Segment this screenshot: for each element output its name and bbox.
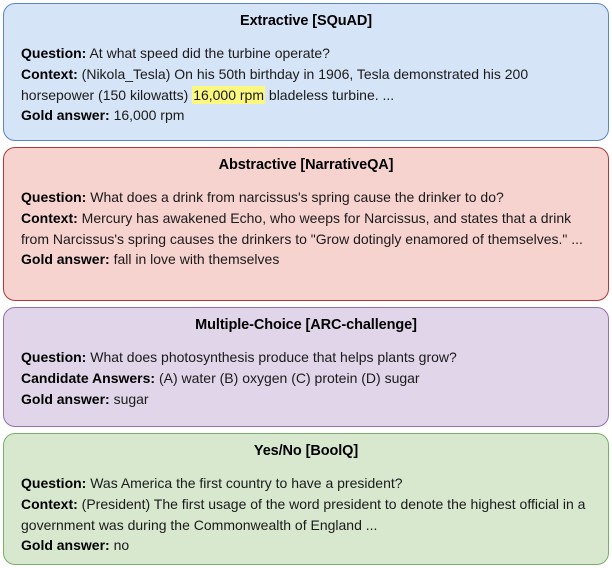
field-value-context: Mercury has awakened Echo, who weeps for… xyxy=(21,210,583,247)
context-highlight-span: 16,000 rpm xyxy=(192,86,265,104)
panel-title-yesno: Yes/No [BoolQ] xyxy=(21,442,591,460)
field-label-context: Context: xyxy=(21,210,78,226)
field-value-gold-answer: sugar xyxy=(114,391,149,407)
field-label-context: Context: xyxy=(21,66,78,82)
field-value-gold-answer: 16,000 rpm xyxy=(114,107,185,123)
field-label-question: Question: xyxy=(21,189,86,205)
field-label-question: Question: xyxy=(21,475,86,491)
field-candidate-answers: Candidate Answers: (A) water (B) oxygen … xyxy=(21,368,591,389)
field-value-question: What does a drink from narcissus's sprin… xyxy=(90,189,504,205)
field-question: Question: Was America the first country … xyxy=(21,473,591,494)
field-value-question: At what speed did the turbine operate? xyxy=(89,45,330,61)
field-label-context: Context: xyxy=(21,496,78,512)
field-context: Context: Mercury has awakened Echo, who … xyxy=(21,208,591,250)
qa-examples-figure: Extractive [SQuAD] Question: At what spe… xyxy=(0,0,612,568)
panel-body-multiple-choice: Question: What does photosynthesis produ… xyxy=(21,347,591,409)
panel-extractive: Extractive [SQuAD] Question: At what spe… xyxy=(3,3,609,141)
field-value-context: (President) The first usage of the word … xyxy=(21,496,585,533)
field-gold-answer: Gold answer: fall in love with themselve… xyxy=(21,249,591,270)
field-label-gold-answer: Gold answer: xyxy=(21,107,110,123)
panel-body-yesno: Question: Was America the first country … xyxy=(21,473,591,556)
panel-body-extractive: Question: At what speed did the turbine … xyxy=(21,43,591,126)
panel-abstractive: Abstractive [NarrativeQA] Question: What… xyxy=(3,147,609,301)
panel-title-extractive: Extractive [SQuAD] xyxy=(21,12,591,30)
panel-body-abstractive: Question: What does a drink from narciss… xyxy=(21,187,591,270)
field-context: Context: (Nikola_Tesla) On his 50th birt… xyxy=(21,64,591,106)
field-value-question: What does photosynthesis produce that he… xyxy=(90,349,457,365)
field-gold-answer: Gold answer: sugar xyxy=(21,389,591,410)
field-value-question: Was America the first country to have a … xyxy=(90,475,402,491)
field-question: Question: What does photosynthesis produ… xyxy=(21,347,591,368)
panel-title-multiple-choice: Multiple-Choice [ARC-challenge] xyxy=(21,316,591,334)
field-value-gold-answer: no xyxy=(114,537,130,553)
field-gold-answer: Gold answer: no xyxy=(21,535,591,556)
field-label-gold-answer: Gold answer: xyxy=(21,537,110,553)
field-label-gold-answer: Gold answer: xyxy=(21,251,110,267)
field-label-candidate-answers: Candidate Answers: xyxy=(21,370,155,386)
field-label-gold-answer: Gold answer: xyxy=(21,391,110,407)
panel-yesno: Yes/No [BoolQ] Question: Was America the… xyxy=(3,433,609,565)
field-value-context-after: bladeless turbine. ... xyxy=(265,87,394,103)
field-question: Question: At what speed did the turbine … xyxy=(21,43,591,64)
field-value-gold-answer: fall in love with themselves xyxy=(114,251,280,267)
panel-multiple-choice: Multiple-Choice [ARC-challenge] Question… xyxy=(3,307,609,427)
field-gold-answer: Gold answer: 16,000 rpm xyxy=(21,105,591,126)
field-label-question: Question: xyxy=(21,45,86,61)
field-context: Context: (President) The first usage of … xyxy=(21,494,591,536)
panel-title-abstractive: Abstractive [NarrativeQA] xyxy=(21,156,591,174)
field-value-candidate-answers: (A) water (B) oxygen (C) protein (D) sug… xyxy=(159,370,420,386)
field-question: Question: What does a drink from narciss… xyxy=(21,187,591,208)
field-label-question: Question: xyxy=(21,349,86,365)
